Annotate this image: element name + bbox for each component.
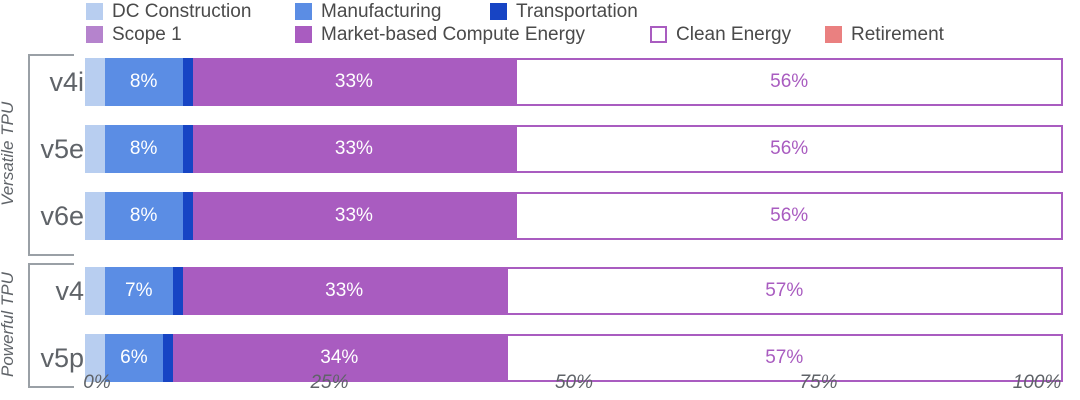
legend-item[interactable]: Retirement <box>825 23 944 46</box>
bar-row: v5e8%33%56% <box>0 125 1080 173</box>
bar-segment[interactable]: 33% <box>193 125 516 173</box>
bar-segment[interactable]: 33% <box>183 267 506 315</box>
legend-item[interactable]: Market-based Compute Energy <box>295 23 585 46</box>
bar-track: 7%33%57% <box>85 267 1063 315</box>
bar-segment[interactable] <box>183 125 193 173</box>
legend-item[interactable]: Clean Energy <box>650 23 791 46</box>
legend-swatch-icon <box>86 26 103 43</box>
legend-label: Manufacturing <box>321 0 441 23</box>
group-label: Versatile TPU <box>0 54 20 254</box>
bar-segment[interactable]: 33% <box>193 58 516 106</box>
bar-segment-value: 6% <box>120 347 147 369</box>
bar-segment[interactable]: 56% <box>515 125 1063 173</box>
bar-segment-value: 33% <box>335 205 373 227</box>
axis-tick-label: 0% <box>83 372 110 394</box>
bar-row: v47%33%57% <box>0 267 1080 315</box>
legend-item[interactable]: DC Construction <box>86 0 251 23</box>
legend-item[interactable]: Scope 1 <box>86 23 182 46</box>
group-label: Powerful TPU <box>0 263 20 386</box>
legend-label: Retirement <box>851 23 944 46</box>
legend-item[interactable]: Manufacturing <box>295 0 441 23</box>
legend-row: DC ConstructionManufacturingTransportati… <box>86 0 1066 23</box>
bar-segment[interactable] <box>173 267 183 315</box>
legend-label: Transportation <box>516 0 638 23</box>
legend-swatch-icon <box>490 3 507 20</box>
group-bracket-cap <box>28 254 74 256</box>
bar-segment-value: 57% <box>765 280 803 302</box>
legend-swatch-icon <box>650 26 667 43</box>
bar-segment-value: 34% <box>320 347 358 369</box>
bar-row: v4i8%33%56% <box>0 58 1080 106</box>
group-bracket-rule <box>28 54 30 254</box>
legend-swatch-icon <box>825 26 842 43</box>
bar-segment[interactable]: 56% <box>515 58 1063 106</box>
legend-label: Market-based Compute Energy <box>321 23 585 46</box>
bar-segment-value: 56% <box>770 138 808 160</box>
bar-track: 8%33%56% <box>85 58 1063 106</box>
bar-segment-value: 33% <box>335 71 373 93</box>
legend-label: Scope 1 <box>112 23 182 46</box>
legend-item[interactable]: Transportation <box>490 0 638 23</box>
chart-legend: DC ConstructionManufacturingTransportati… <box>86 0 1066 46</box>
bar-segment-value: 33% <box>325 280 363 302</box>
legend-row: Scope 1Market-based Compute EnergyClean … <box>86 23 1066 46</box>
legend-swatch-icon <box>295 3 312 20</box>
axis-tick-label: 25% <box>310 372 348 394</box>
bar-segment[interactable]: 57% <box>506 267 1063 315</box>
legend-label: DC Construction <box>112 0 251 23</box>
bar-segment[interactable] <box>85 58 105 106</box>
group-bracket-cap <box>28 54 74 56</box>
axis-tick-label: 100% <box>1013 372 1062 394</box>
legend-swatch-icon <box>86 3 103 20</box>
bar-segment-value: 8% <box>130 205 157 227</box>
bar-segment[interactable]: 56% <box>515 192 1063 240</box>
bar-segment[interactable] <box>183 192 193 240</box>
bar-row: v6e8%33%56% <box>0 192 1080 240</box>
stacked-bar-chart: DC ConstructionManufacturingTransportati… <box>0 0 1080 400</box>
bar-row-label: v4 <box>14 267 84 315</box>
bar-segment[interactable] <box>85 192 105 240</box>
group-bracket-rule <box>28 263 30 386</box>
bar-track: 8%33%56% <box>85 192 1063 240</box>
group-bracket-cap <box>28 263 74 265</box>
bar-segment[interactable]: 33% <box>193 192 516 240</box>
bar-segment-value: 7% <box>125 280 152 302</box>
bar-segment[interactable]: 7% <box>105 267 173 315</box>
bar-segment-value: 56% <box>770 205 808 227</box>
axis-tick-label: 75% <box>799 372 837 394</box>
bar-segment[interactable] <box>183 58 193 106</box>
bar-segment-value: 57% <box>765 347 803 369</box>
bar-segment-value: 8% <box>130 138 157 160</box>
bar-segment-value: 56% <box>770 71 808 93</box>
legend-label: Clean Energy <box>676 23 791 46</box>
plot-area: v4i8%33%56%v5e8%33%56%v6e8%33%56%v47%33%… <box>0 46 1080 400</box>
bar-row-label: v6e <box>14 192 84 240</box>
bar-track: 8%33%56% <box>85 125 1063 173</box>
bar-segment[interactable]: 8% <box>105 125 183 173</box>
bar-segment[interactable] <box>85 267 105 315</box>
bar-segment[interactable]: 8% <box>105 192 183 240</box>
bar-segment-value: 33% <box>335 138 373 160</box>
bar-row-label: v4i <box>14 58 84 106</box>
bar-segment-value: 8% <box>130 71 157 93</box>
axis-tick-label: 50% <box>555 372 593 394</box>
bar-segment[interactable]: 8% <box>105 58 183 106</box>
x-axis: 0%25%50%75%100% <box>0 372 1080 400</box>
bar-row-label: v5e <box>14 125 84 173</box>
bar-segment[interactable] <box>85 125 105 173</box>
legend-swatch-icon <box>295 26 312 43</box>
